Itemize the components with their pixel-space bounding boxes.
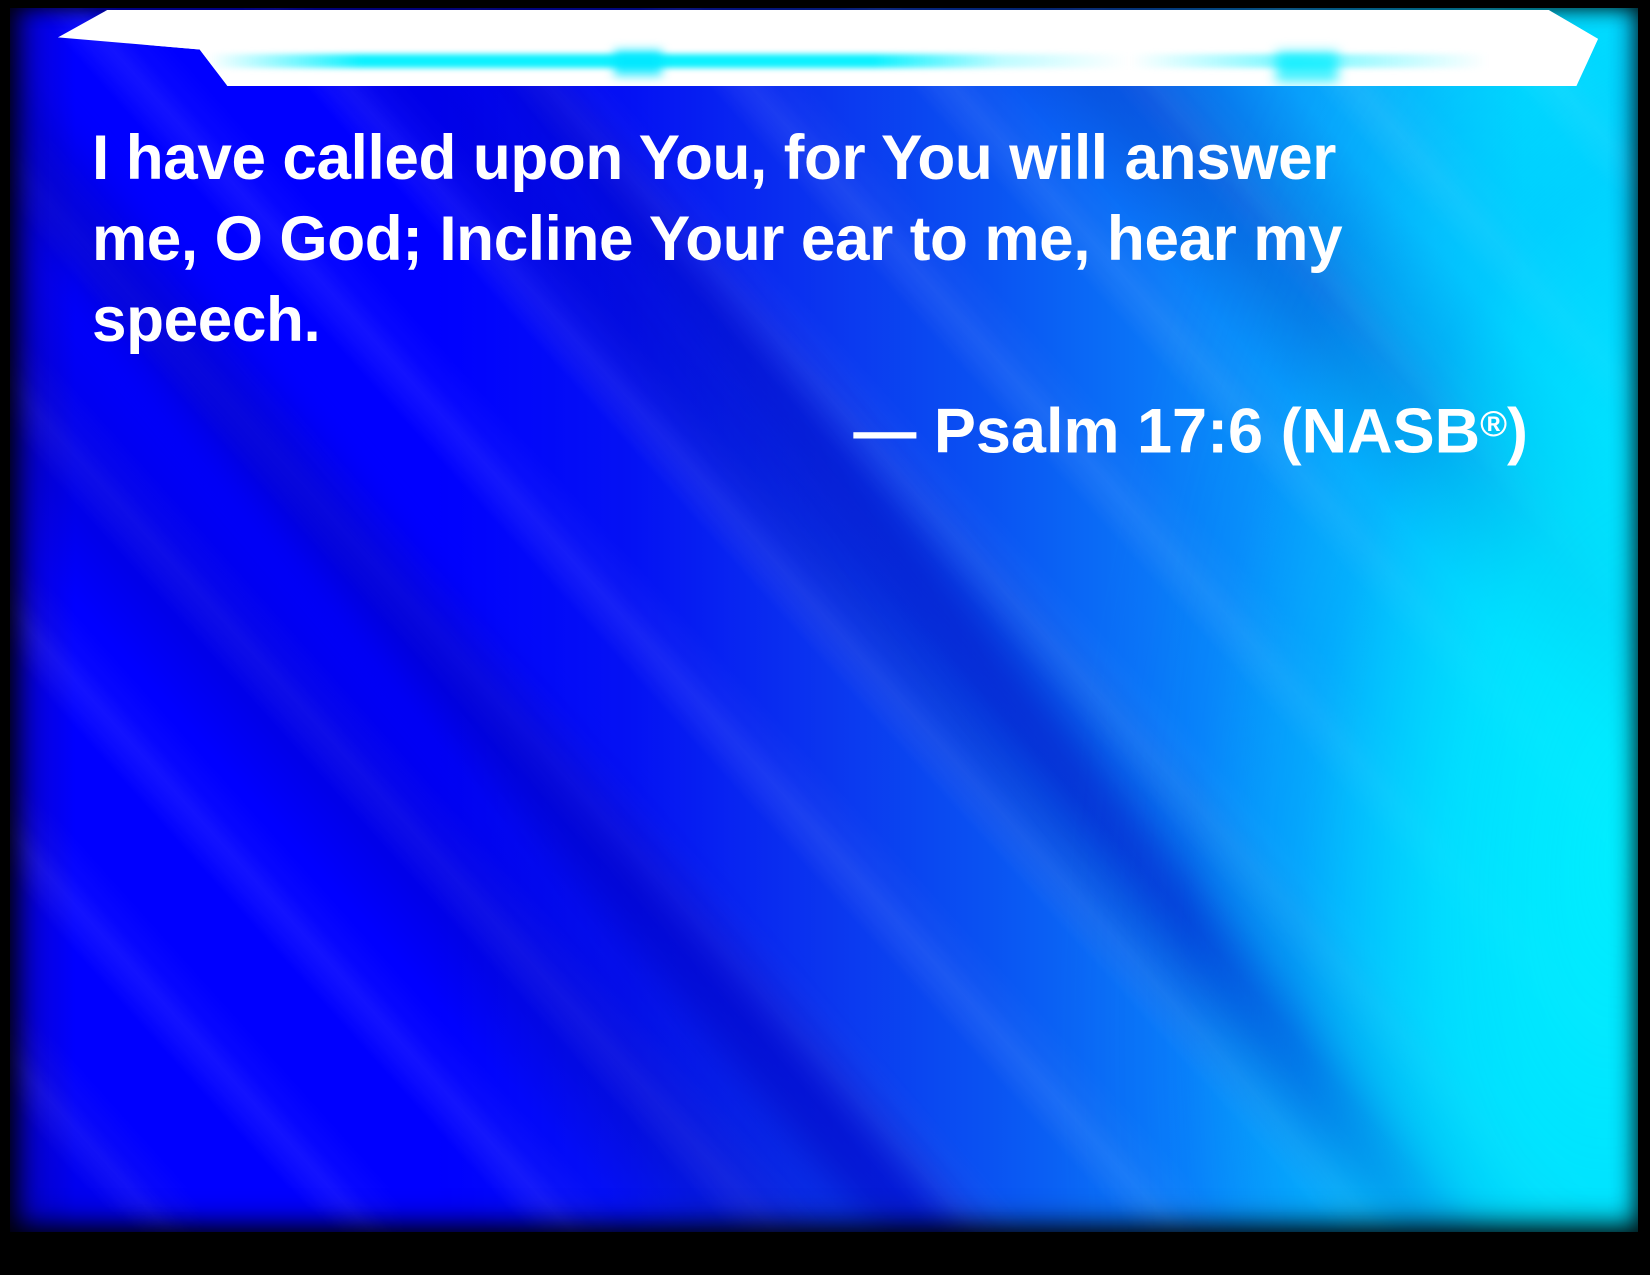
registered-trademark-icon: ®: [1480, 403, 1507, 444]
verse-slide: I have called upon You, for You will ans…: [0, 0, 1650, 1275]
verse-text-block: I have called upon You, for You will ans…: [92, 118, 1532, 361]
background-panel: I have called upon You, for You will ans…: [10, 8, 1638, 1232]
header-band-notch-secondary: [1276, 52, 1338, 82]
verse-attribution: — Psalm 17:6 (NASB®): [853, 383, 1528, 472]
header-band-notch: [614, 50, 662, 76]
verse-line-2: me, O God; Incline Your ear to me, hear …: [92, 199, 1510, 280]
attribution-prefix: — Psalm 17:6 (NASB: [853, 396, 1480, 466]
verse-line-1: I have called upon You, for You will ans…: [92, 118, 1510, 199]
verse-line-3: speech.: [92, 280, 1510, 361]
attribution-suffix: ): [1507, 396, 1528, 466]
header-light-band: [58, 10, 1598, 86]
